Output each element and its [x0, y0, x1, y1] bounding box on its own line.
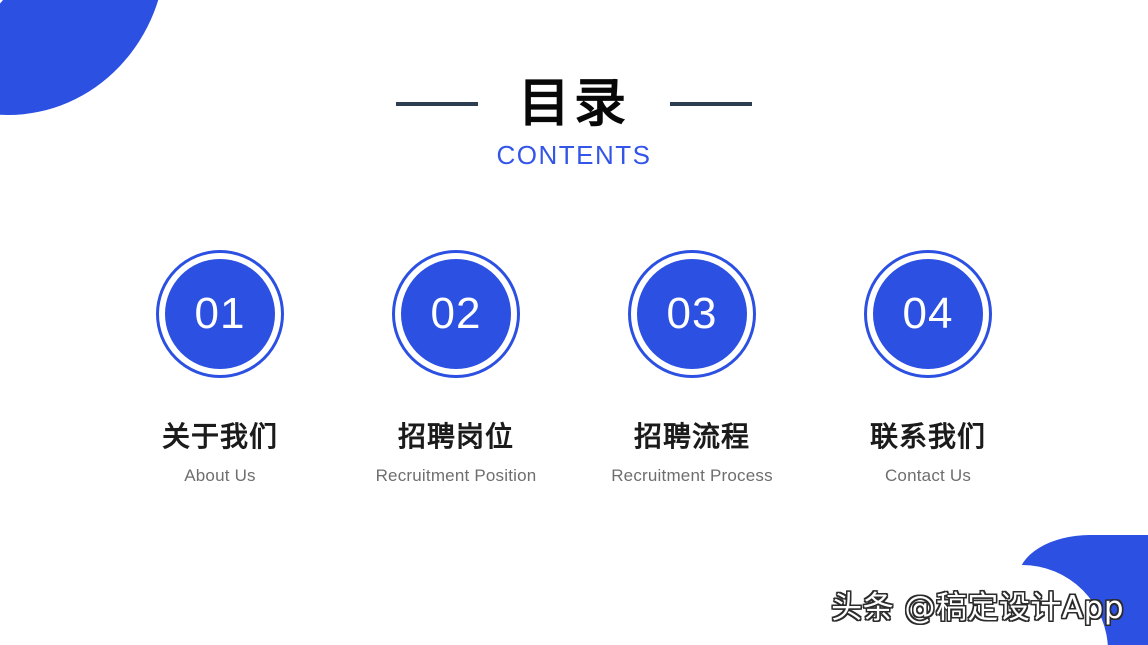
title-dash-right — [670, 102, 752, 106]
number-badge-04[interactable]: 04 — [864, 250, 992, 378]
contents-item-label-cn: 关于我们 — [162, 423, 278, 451]
watermark-label: 头条 @稿定设计App — [831, 582, 1124, 627]
number-badge-label: 03 — [667, 292, 718, 336]
contents-item-01[interactable]: 01 关于我们 About Us — [120, 250, 320, 484]
page-title-cn: 目录 — [518, 78, 630, 130]
number-badge-03[interactable]: 03 — [628, 250, 756, 378]
title-dash-left — [396, 102, 478, 106]
slide-header: 目录 CONTENTS — [0, 78, 1148, 168]
contents-item-label-en: Recruitment Process — [611, 467, 773, 484]
contents-item-04[interactable]: 04 联系我们 Contact Us — [828, 250, 1028, 484]
number-badge-label: 04 — [903, 292, 954, 336]
number-badge-fill: 04 — [873, 259, 983, 369]
number-badge-fill: 02 — [401, 259, 511, 369]
title-row: 目录 — [0, 78, 1148, 130]
number-badge-label: 01 — [195, 292, 246, 336]
contents-list: 01 关于我们 About Us 02 招聘岗位 Recruitment Pos… — [120, 250, 1028, 484]
contents-item-label-cn: 联系我们 — [870, 423, 986, 451]
contents-item-label-en: Recruitment Position — [376, 467, 537, 484]
contents-item-label-en: Contact Us — [885, 467, 971, 484]
number-badge-fill: 03 — [637, 259, 747, 369]
number-badge-fill: 01 — [165, 259, 275, 369]
number-badge-02[interactable]: 02 — [392, 250, 520, 378]
contents-item-02[interactable]: 02 招聘岗位 Recruitment Position — [356, 250, 556, 484]
number-badge-label: 02 — [431, 292, 482, 336]
contents-item-03[interactable]: 03 招聘流程 Recruitment Process — [592, 250, 792, 484]
number-badge-01[interactable]: 01 — [156, 250, 284, 378]
page-title-en: CONTENTS — [0, 142, 1148, 168]
contents-item-label-en: About Us — [184, 467, 256, 484]
contents-item-label-cn: 招聘流程 — [634, 423, 750, 451]
contents-item-label-cn: 招聘岗位 — [398, 423, 514, 451]
slide-canvas: 目录 CONTENTS 01 关于我们 About Us 02 招聘岗位 Rec… — [0, 0, 1148, 645]
